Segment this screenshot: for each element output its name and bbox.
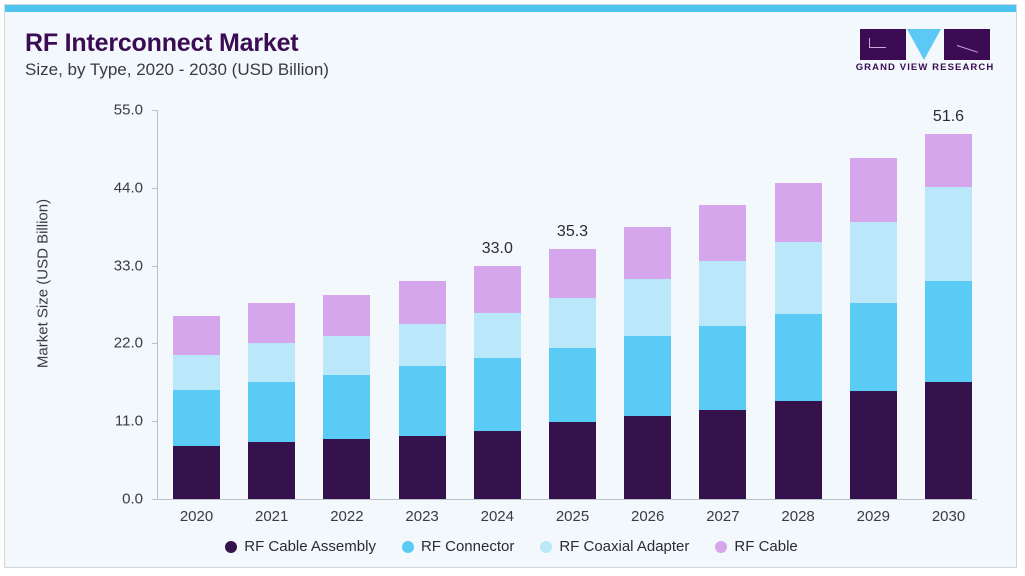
- bar-segment[interactable]: [474, 431, 521, 499]
- legend-swatch-icon: [402, 541, 414, 553]
- y-axis-tick-mark: [152, 499, 158, 500]
- bar-segment[interactable]: [323, 336, 370, 376]
- x-axis-tick-label: 2021: [232, 508, 312, 525]
- bar-segment[interactable]: [173, 390, 220, 446]
- bar-segment[interactable]: [399, 324, 446, 366]
- y-axis-tick-label: 22.0: [83, 335, 143, 352]
- bar-segment[interactable]: [699, 205, 746, 261]
- bar-segment[interactable]: [699, 326, 746, 410]
- bar-segment[interactable]: [248, 382, 295, 443]
- y-axis-tick-label: 0.0: [83, 491, 143, 508]
- x-axis-tick-label: 2029: [833, 508, 913, 525]
- bar-segment[interactable]: [624, 336, 671, 416]
- y-axis-tick-label: 33.0: [83, 257, 143, 274]
- legend-item[interactable]: RF Connector: [402, 538, 514, 555]
- y-axis-tick-mark: [152, 343, 158, 344]
- bar-segment[interactable]: [775, 183, 822, 242]
- stacked-bar[interactable]: [323, 110, 370, 499]
- bar-segment[interactable]: [248, 343, 295, 381]
- bar-segment[interactable]: [323, 375, 370, 439]
- legend-item[interactable]: RF Cable: [715, 538, 797, 555]
- bar-segment[interactable]: [850, 391, 897, 499]
- bar-segment[interactable]: [624, 416, 671, 499]
- bar-segment[interactable]: [399, 281, 446, 324]
- y-axis-tick-mark: [152, 421, 158, 422]
- legend-item[interactable]: RF Cable Assembly: [225, 538, 376, 555]
- x-axis-tick-label: 2026: [608, 508, 688, 525]
- stacked-bar[interactable]: [699, 110, 746, 499]
- bar-segment[interactable]: [925, 382, 972, 499]
- bar-segment[interactable]: [549, 298, 596, 348]
- bar-segment[interactable]: [775, 401, 822, 499]
- bar-value-label: 33.0: [452, 240, 542, 258]
- bar-segment[interactable]: [474, 313, 521, 358]
- x-axis-tick-label: 2020: [157, 508, 237, 525]
- y-axis-tick-label: 11.0: [83, 413, 143, 430]
- x-axis-tick-label: 2030: [909, 508, 989, 525]
- bar-segment[interactable]: [775, 242, 822, 314]
- bar-segment[interactable]: [399, 436, 446, 499]
- stacked-bar[interactable]: [775, 110, 822, 499]
- bar-segment[interactable]: [850, 222, 897, 303]
- legend-label: RF Cable Assembly: [244, 538, 376, 555]
- bar-segment[interactable]: [925, 187, 972, 281]
- y-axis-tick-mark: [152, 110, 158, 111]
- bar-segment[interactable]: [323, 295, 370, 336]
- x-axis-tick-label: 2028: [758, 508, 838, 525]
- bar-segment[interactable]: [549, 422, 596, 499]
- y-axis-line: [157, 110, 158, 499]
- x-axis-tick-label: 2025: [533, 508, 613, 525]
- bar-segment[interactable]: [248, 442, 295, 499]
- stacked-bar[interactable]: [474, 110, 521, 499]
- stacked-bar[interactable]: [248, 110, 295, 499]
- bar-segment[interactable]: [850, 303, 897, 391]
- bar-segment[interactable]: [775, 314, 822, 400]
- bar-segment[interactable]: [399, 366, 446, 436]
- legend-label: RF Coaxial Adapter: [559, 538, 689, 555]
- stacked-bar[interactable]: [624, 110, 671, 499]
- stacked-bar[interactable]: [925, 110, 972, 499]
- bar-segment[interactable]: [925, 281, 972, 381]
- bar-segment[interactable]: [248, 303, 295, 343]
- stacked-bar[interactable]: [549, 110, 596, 499]
- bar-segment[interactable]: [624, 279, 671, 336]
- bar-segment[interactable]: [549, 249, 596, 298]
- stacked-bar-chart: Market Size (USD Billion) 0.011.022.033.…: [5, 5, 1017, 568]
- bar-segment[interactable]: [474, 358, 521, 432]
- stacked-bar[interactable]: [173, 110, 220, 499]
- stacked-bar[interactable]: [399, 110, 446, 499]
- x-axis-line: [157, 499, 977, 500]
- chart-card: RF Interconnect Market Size, by Type, 20…: [4, 4, 1017, 568]
- bar-segment[interactable]: [173, 316, 220, 355]
- bar-value-label: 51.6: [904, 108, 994, 126]
- bar-segment[interactable]: [624, 227, 671, 279]
- bar-segment[interactable]: [850, 158, 897, 222]
- legend-item[interactable]: RF Coaxial Adapter: [540, 538, 689, 555]
- y-axis-tick-label: 55.0: [83, 102, 143, 119]
- y-axis-tick-mark: [152, 266, 158, 267]
- bar-segment[interactable]: [474, 266, 521, 313]
- y-axis-tick-label: 44.0: [83, 179, 143, 196]
- bar-segment[interactable]: [173, 446, 220, 499]
- legend-swatch-icon: [225, 541, 237, 553]
- bar-segment[interactable]: [323, 439, 370, 499]
- bar-segment[interactable]: [699, 410, 746, 499]
- y-axis-label: Market Size (USD Billion): [35, 154, 52, 414]
- chart-legend: RF Cable AssemblyRF ConnectorRF Coaxial …: [5, 538, 1017, 555]
- bar-segment[interactable]: [173, 355, 220, 390]
- x-axis-tick-label: 2027: [683, 508, 763, 525]
- legend-swatch-icon: [540, 541, 552, 553]
- bar-segment[interactable]: [699, 261, 746, 325]
- y-axis-tick-mark: [152, 188, 158, 189]
- x-axis-tick-label: 2023: [382, 508, 462, 525]
- legend-label: RF Cable: [734, 538, 797, 555]
- x-axis-tick-label: 2022: [307, 508, 387, 525]
- legend-swatch-icon: [715, 541, 727, 553]
- bar-segment[interactable]: [549, 348, 596, 422]
- legend-label: RF Connector: [421, 538, 514, 555]
- bar-segment[interactable]: [925, 134, 972, 187]
- bar-value-label: 35.3: [528, 223, 618, 241]
- x-axis-tick-label: 2024: [457, 508, 537, 525]
- stacked-bar[interactable]: [850, 110, 897, 499]
